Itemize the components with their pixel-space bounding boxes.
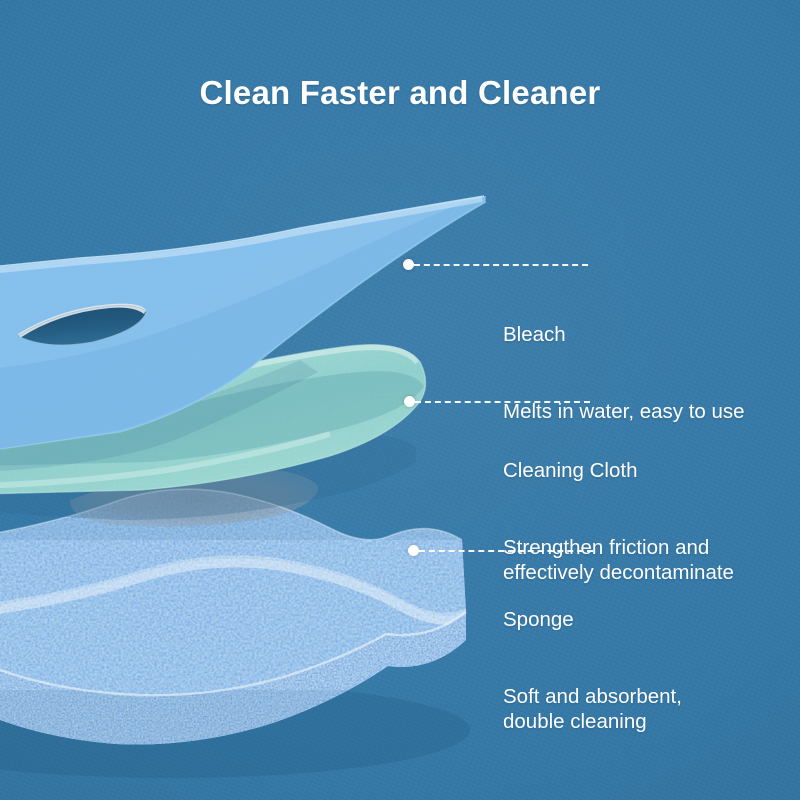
callout-heading-bleach: Bleach xyxy=(503,322,745,348)
callout-dot-sponge xyxy=(408,545,419,556)
callout-heading-sponge: Sponge xyxy=(503,607,682,633)
callout-line-sponge xyxy=(419,550,593,552)
product-infographic: Clean Faster and Cleaner Bleach Melts in… xyxy=(0,0,800,800)
callout-label-sponge: Sponge Soft and absorbent, double cleani… xyxy=(503,556,682,786)
callout-line-cleaning-cloth xyxy=(415,401,590,403)
callout-dot-cleaning-cloth xyxy=(404,396,415,407)
callout-subtext-sponge: Soft and absorbent, double cleaning xyxy=(503,684,682,735)
callout-dot-bleach xyxy=(403,259,414,270)
callout-heading-cleaning-cloth: Cleaning Cloth xyxy=(503,458,734,484)
page-title: Clean Faster and Cleaner xyxy=(0,74,800,112)
callout-line-bleach xyxy=(414,264,588,266)
